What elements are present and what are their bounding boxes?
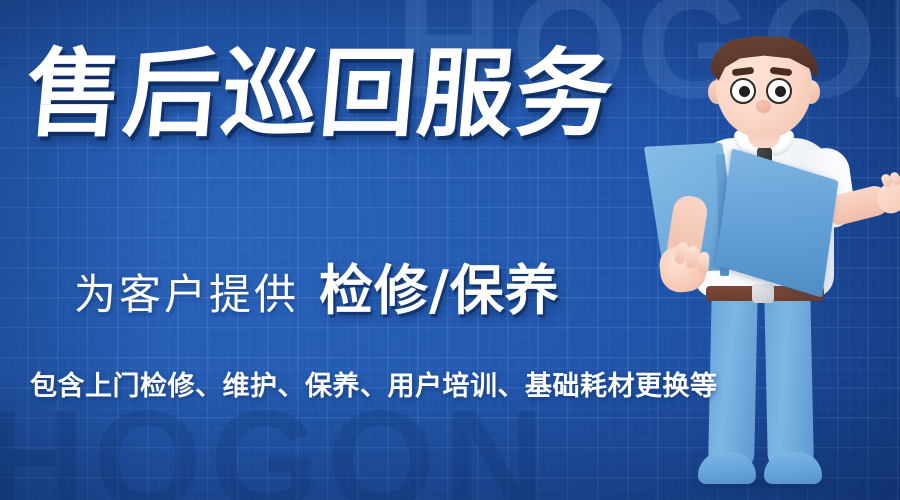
character-shoe-left — [698, 452, 756, 484]
character-floor-shadow — [662, 470, 852, 496]
character-shoe-right — [764, 452, 822, 484]
banner-subtitle-row: 为客户提供 检修/保养 — [74, 246, 560, 325]
character-belt-buckle — [752, 284, 774, 303]
technician-character-illustration — [614, 18, 900, 500]
banner-headline: 售后巡回服务 — [22, 44, 619, 146]
character-pupil-right — [775, 86, 786, 97]
character-finger — [697, 252, 710, 275]
banner-description: 包含上门检修、维护、保养、用户培训、基础耗材更换等 — [30, 364, 718, 403]
banner-subtitle-light: 为客户提供 — [74, 261, 299, 322]
character-pupil-left — [739, 86, 750, 97]
watermark-bottom-logo-text: HOGON — [0, 390, 553, 500]
character-leg-right — [764, 280, 814, 471]
banner-subtitle-strong: 检修/保养 — [319, 246, 560, 325]
character-nose — [756, 100, 771, 113]
after-sales-service-banner: HOGON HOGON — [0, 0, 900, 500]
